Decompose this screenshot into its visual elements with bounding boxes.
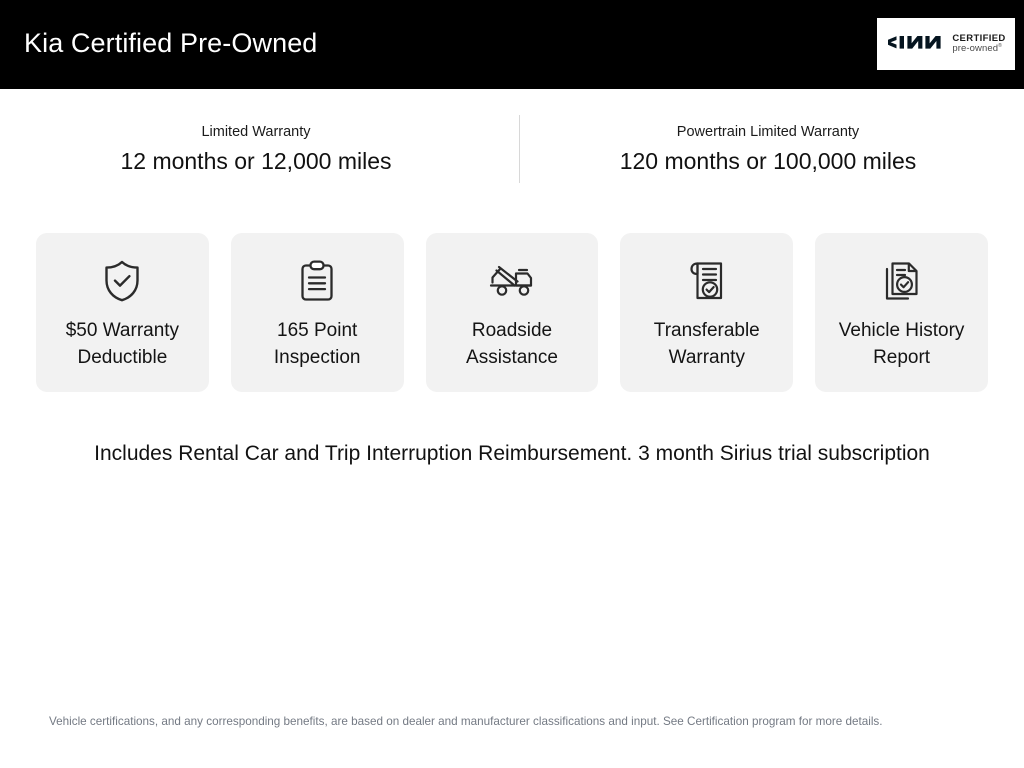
warranty-block-powertrain: Powertrain Limited Warranty 120 months o… <box>512 118 1024 176</box>
kia-certified-preowned-page: Kia Certified Pre-Owned CERTIFIED pre-ow… <box>0 0 1024 768</box>
documents-check-icon <box>877 256 927 306</box>
feature-card-label: 165 Point Inspection <box>268 318 367 372</box>
feature-card-row: $50 Warranty Deductible 165 Point Inspec… <box>36 233 988 392</box>
page-header: Kia Certified Pre-Owned CERTIFIED pre-ow… <box>0 0 1024 89</box>
kia-certified-preowned-logo: CERTIFIED pre-owned® <box>877 18 1015 70</box>
feature-card-vehicle-history-report[interactable]: Vehicle History Report <box>815 233 988 392</box>
warranty-summary-row: Limited Warranty 12 months or 12,000 mil… <box>0 118 1024 184</box>
feature-card-transferable-warranty[interactable]: Transferable Warranty <box>620 233 793 392</box>
clipboard-lines-icon <box>292 256 342 306</box>
warranty-divider <box>519 115 520 183</box>
logo-trademark: ® <box>998 43 1002 49</box>
feature-card-roadside-assistance[interactable]: Roadside Assistance <box>426 233 599 392</box>
feature-card-warranty-deductible[interactable]: $50 Warranty Deductible <box>36 233 209 392</box>
warranty-block-limited: Limited Warranty 12 months or 12,000 mil… <box>0 118 512 176</box>
feature-card-label: Vehicle History Report <box>833 318 971 372</box>
feature-card-label: $50 Warranty Deductible <box>60 318 185 372</box>
scroll-check-icon <box>682 256 732 306</box>
feature-card-label: Transferable Warranty <box>648 318 766 372</box>
shield-check-icon <box>97 256 147 306</box>
kia-wordmark-icon <box>886 32 944 57</box>
tow-truck-icon <box>487 256 537 306</box>
logo-preowned-label: pre-owned <box>952 43 998 54</box>
footer-disclaimer: Vehicle certifications, and any correspo… <box>49 713 989 731</box>
warranty-label-powertrain: Powertrain Limited Warranty <box>512 123 1024 141</box>
logo-preowned-text: pre-owned® <box>952 44 1005 54</box>
warranty-value-limited: 12 months or 12,000 miles <box>0 148 512 176</box>
warranty-value-powertrain: 120 months or 100,000 miles <box>512 148 1024 176</box>
includes-note: Includes Rental Car and Trip Interruptio… <box>0 440 1024 467</box>
feature-card-label: Roadside Assistance <box>460 318 564 372</box>
warranty-label-limited: Limited Warranty <box>0 123 512 141</box>
feature-card-point-inspection[interactable]: 165 Point Inspection <box>231 233 404 392</box>
page-title: Kia Certified Pre-Owned <box>24 28 317 59</box>
logo-text-block: CERTIFIED pre-owned® <box>952 34 1005 54</box>
